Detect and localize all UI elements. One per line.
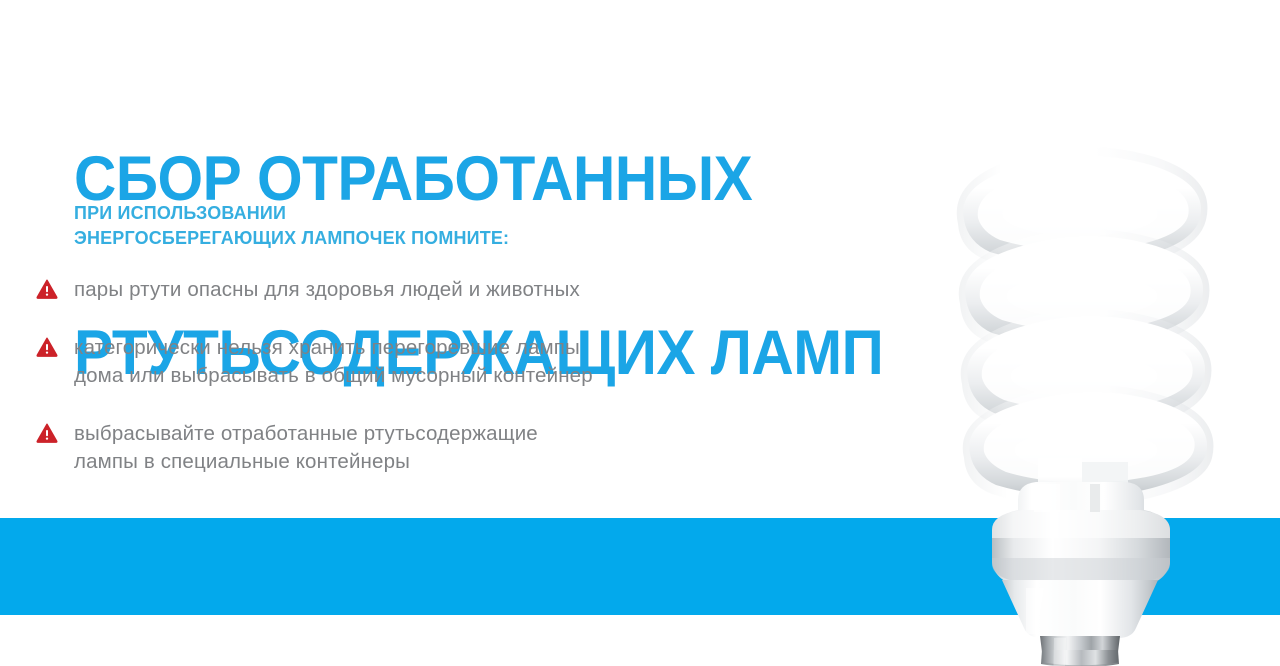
subtitle-line-2: ЭНЕРГОСБЕРЕГАЮЩИХ ЛАМПОЧЕК ПОМНИТЕ:	[74, 225, 695, 250]
poster-root: СБОР ОТРАБОТАННЫХ РТУТЬСОДЕРЖАЩИХ ЛАМП П…	[0, 0, 1280, 666]
warning-triangle-icon	[36, 279, 58, 299]
list-item-label: категорически нельзя хранить перегоревши…	[74, 334, 716, 390]
warning-triangle-icon	[36, 423, 58, 443]
list-item-label: пары ртути опасны для здоровья людей и ж…	[74, 276, 716, 304]
list-item-label: выбрасывайте отработанные ртутьсодержащи…	[74, 420, 716, 476]
subtitle: ПРИ ИСПОЛЬЗОВАНИИ ЭНЕРГОСБЕРЕГАЮЩИХ ЛАМП…	[74, 200, 695, 250]
list-item: категорически нельзя хранить перегоревши…	[36, 334, 716, 390]
list-item: выбрасывайте отработанные ртутьсодержащи…	[36, 420, 716, 476]
bottom-banner	[0, 518, 1280, 615]
warning-list: пары ртути опасны для здоровья людей и ж…	[36, 276, 716, 476]
warning-triangle-icon	[36, 337, 58, 357]
subtitle-line-1: ПРИ ИСПОЛЬЗОВАНИИ	[74, 200, 695, 225]
list-item: пары ртути опасны для здоровья людей и ж…	[36, 276, 716, 304]
